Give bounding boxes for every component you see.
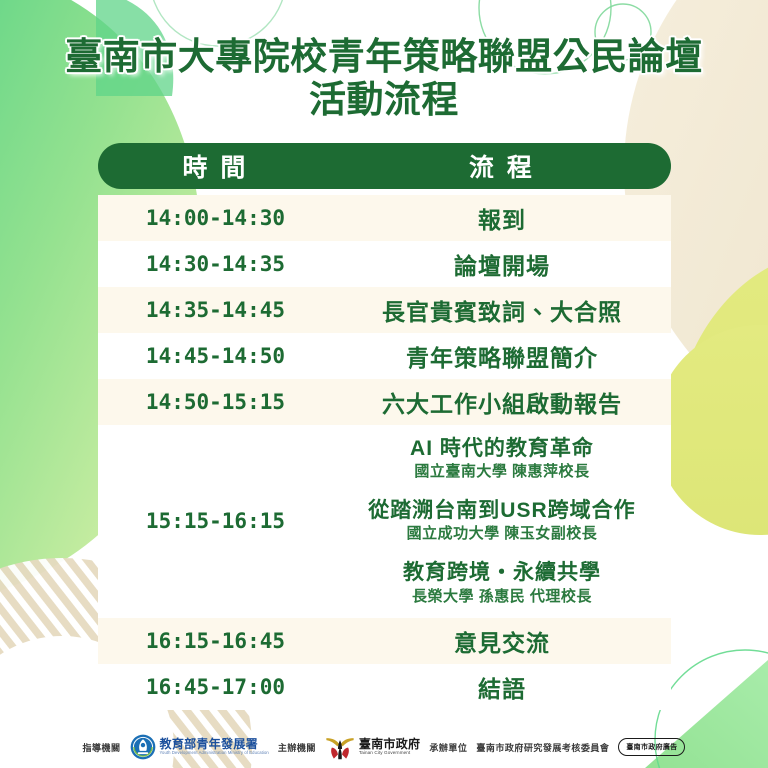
talk-speaker: 國立成功大學 陳玉女副校長 [333,525,671,543]
table-row: 14:50-15:15六大工作小組啟動報告 [98,379,671,425]
talk-title: 教育跨境・永續共學 [333,560,671,585]
row-time: 14:45-14:50 [98,344,333,368]
footer-host-label: 主辦機關 [278,741,316,754]
table-body: 14:00-14:30報到14:30-14:35論壇開場14:35-14:45長… [98,195,671,710]
table-row: 15:15-16:15AI 時代的教育革命國立臺南大學 陳惠萍校長從踏溯台南到U… [98,425,671,618]
footer-organizer-label: 承辦單位 [429,741,467,754]
tainan-city-logo: 臺南市政府 Tainan City Government [325,734,421,760]
row-time: 14:50-15:15 [98,390,333,414]
page-title: 臺南市大專院校青年策略聯盟公民論壇 活動流程 [0,36,768,122]
table-row: 16:15-16:45意見交流 [98,618,671,664]
talk-entry: AI 時代的教育革命國立臺南大學 陳惠萍校長 [333,429,671,489]
row-time: 16:45-17:00 [98,675,333,699]
talk-entry: 從踏溯台南到USR跨域合作國立成功大學 陳玉女副校長 [333,489,671,551]
row-item: 報到 [333,201,671,235]
row-item: 青年策略聯盟簡介 [333,339,671,373]
row-item: AI 時代的教育革命國立臺南大學 陳惠萍校長從踏溯台南到USR跨域合作國立成功大… [333,425,671,618]
row-time: 14:00-14:30 [98,206,333,230]
page-title-line-2: 活動流程 [0,79,768,122]
talk-speaker: 國立臺南大學 陳惠萍校長 [333,463,671,481]
row-item: 長官貴賓致詞、大合照 [333,293,671,327]
row-item: 六大工作小組啟動報告 [333,385,671,419]
tainan-city-name-en: Tainan City Government [359,751,421,756]
column-header-item: 流 程 [333,148,671,184]
talk-title: AI 時代的教育革命 [333,436,671,461]
footer-guidance-label: 指導機關 [83,741,121,754]
table-row: 16:45-17:00結語 [98,664,671,710]
talk-speaker: 長榮大學 孫惠民 代理校長 [333,588,671,606]
row-time: 14:30-14:35 [98,252,333,276]
table-row: 14:00-14:30報到 [98,195,671,241]
footer: 指導機關 教育部青年發展署 Youth Development Administ… [0,726,768,768]
advertisement-badge: 臺南市政府廣告 [618,738,685,756]
table-header-row: 時 間 流 程 [98,143,671,189]
table-row: 14:30-14:35論壇開場 [98,241,671,287]
tainan-phoenix-icon [325,734,355,760]
tainan-city-name-zh: 臺南市政府 [359,738,421,750]
moe-youth-text: 教育部青年發展署 Youth Development Administratio… [160,738,269,755]
row-time: 15:15-16:15 [98,425,333,618]
tainan-city-text: 臺南市政府 Tainan City Government [359,738,421,756]
row-item: 論壇開場 [333,247,671,281]
table-row: 14:35-14:45長官貴賓致詞、大合照 [98,287,671,333]
row-time: 14:35-14:45 [98,298,333,322]
poster-content: 臺南市大專院校青年策略聯盟公民論壇 活動流程 時 間 流 程 14:00-14:… [0,0,768,768]
moe-youth-logo: 教育部青年發展署 Youth Development Administratio… [130,734,269,760]
row-item: 意見交流 [333,624,671,658]
footer-organizer-name: 臺南市政府研究發展考核委員會 [476,741,609,754]
talk-title: 從踏溯台南到USR跨域合作 [333,498,671,523]
schedule-table: 時 間 流 程 14:00-14:30報到14:30-14:35論壇開場14:3… [98,143,671,710]
column-header-time: 時 間 [98,148,333,184]
table-row: 14:45-14:50青年策略聯盟簡介 [98,333,671,379]
row-time: 16:15-16:45 [98,629,333,653]
page-title-line-1: 臺南市大專院校青年策略聯盟公民論壇 [0,36,768,79]
row-item: 結語 [333,670,671,704]
moe-youth-name-en: Youth Development Administration Ministr… [160,751,269,755]
moe-seal-icon [130,734,156,760]
talk-entry: 教育跨境・永續共學長榮大學 孫惠民 代理校長 [333,551,671,613]
moe-youth-name-zh: 教育部青年發展署 [160,738,269,750]
